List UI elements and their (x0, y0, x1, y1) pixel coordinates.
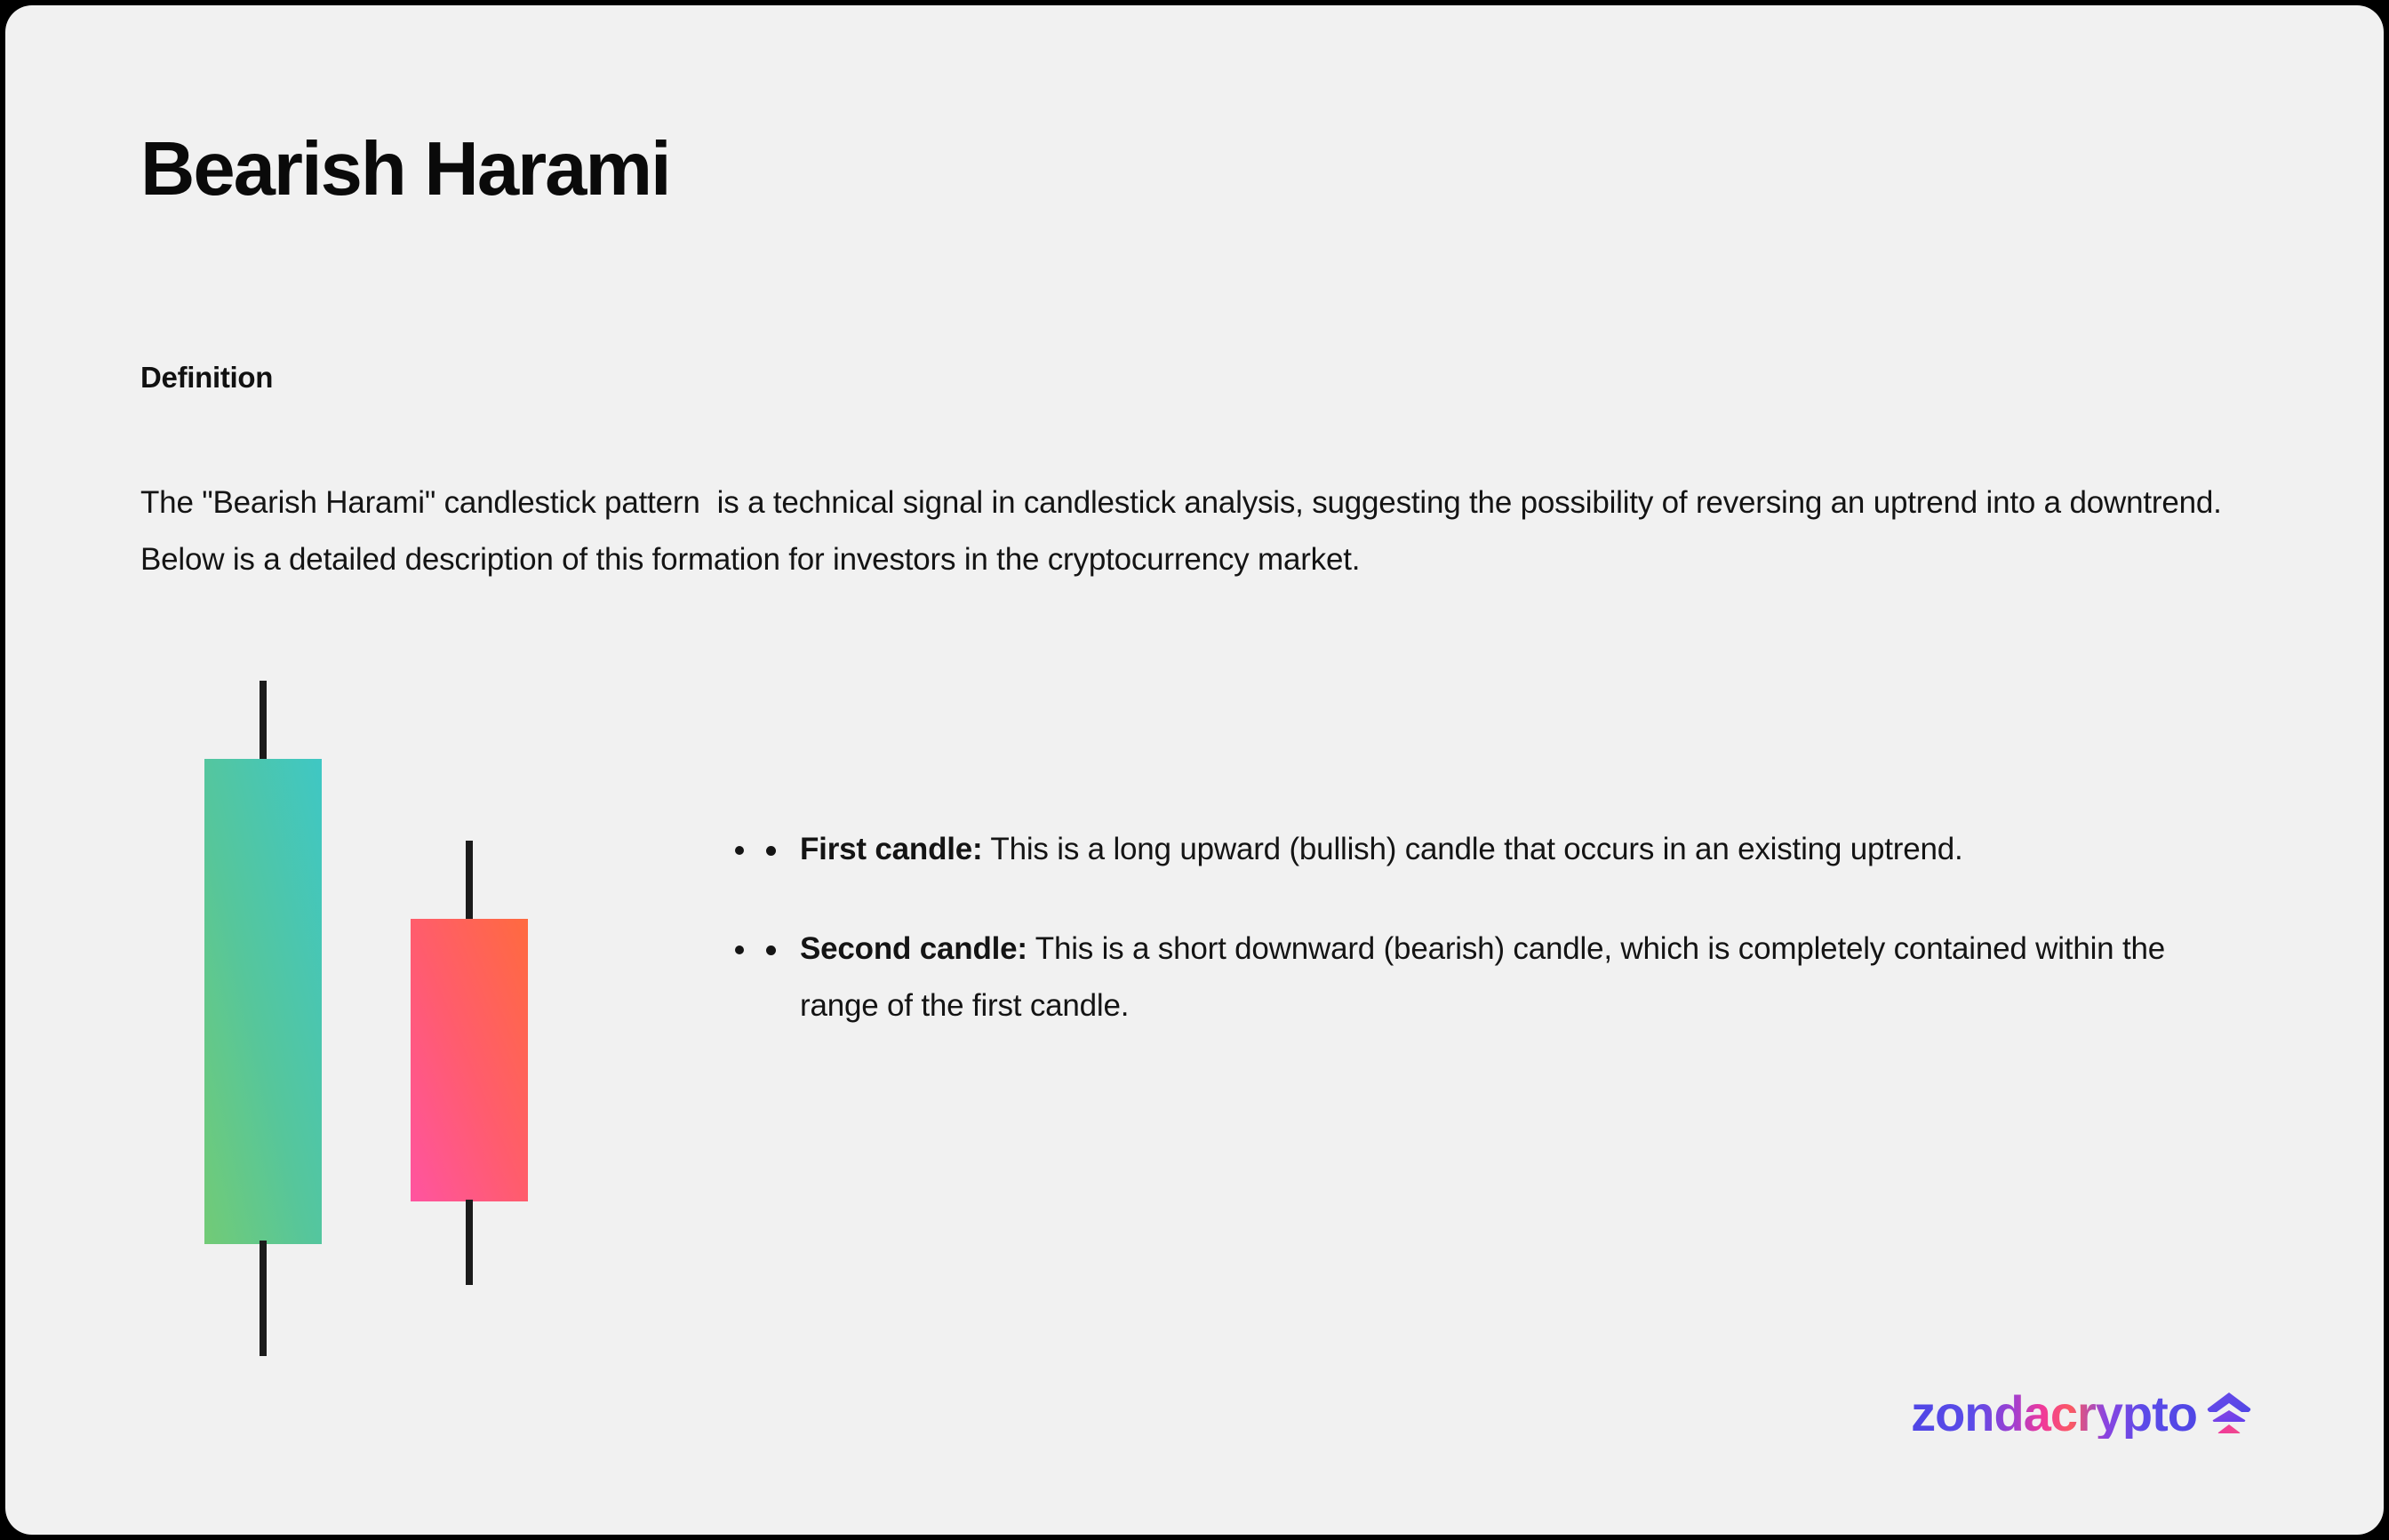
definition-heading: Definition (140, 361, 273, 395)
list-item: First candle: This is a long upward (bul… (759, 821, 2217, 878)
list-item: Second candle: This is a short downward … (759, 921, 2217, 1034)
list-item-lead: First candle: (800, 832, 983, 866)
stacked-chevron-icon (2206, 1391, 2252, 1437)
candlestick-chart (139, 681, 601, 1427)
bullet-dot-icon (766, 846, 776, 856)
candle-body (411, 919, 528, 1201)
definition-paragraph: The "Bearish Harami" candlestick pattern… (140, 475, 2273, 588)
list-item-text: This is a long upward (bullish) candle t… (983, 832, 1963, 866)
bullet-dot-icon (766, 946, 776, 955)
candle-upper-wick (466, 841, 473, 921)
candle-upper-wick (260, 681, 267, 761)
candle-second-bearish (411, 841, 528, 1321)
brand-logo: zondacrypto (1911, 1389, 2252, 1439)
candle-description-list: First candle: This is a long upward (bul… (759, 821, 2217, 1034)
candle-first-bullish (204, 681, 322, 1321)
candle-lower-wick (466, 1200, 473, 1285)
candle-lower-wick (260, 1241, 267, 1356)
content-card: Bearish Harami Definition The "Bearish H… (5, 5, 2384, 1535)
list-item-lead: Second candle: (800, 931, 1027, 966)
logo-wordmark: zondacrypto (1911, 1389, 2197, 1439)
page-title: Bearish Harami (140, 130, 670, 209)
candle-body (204, 759, 322, 1244)
